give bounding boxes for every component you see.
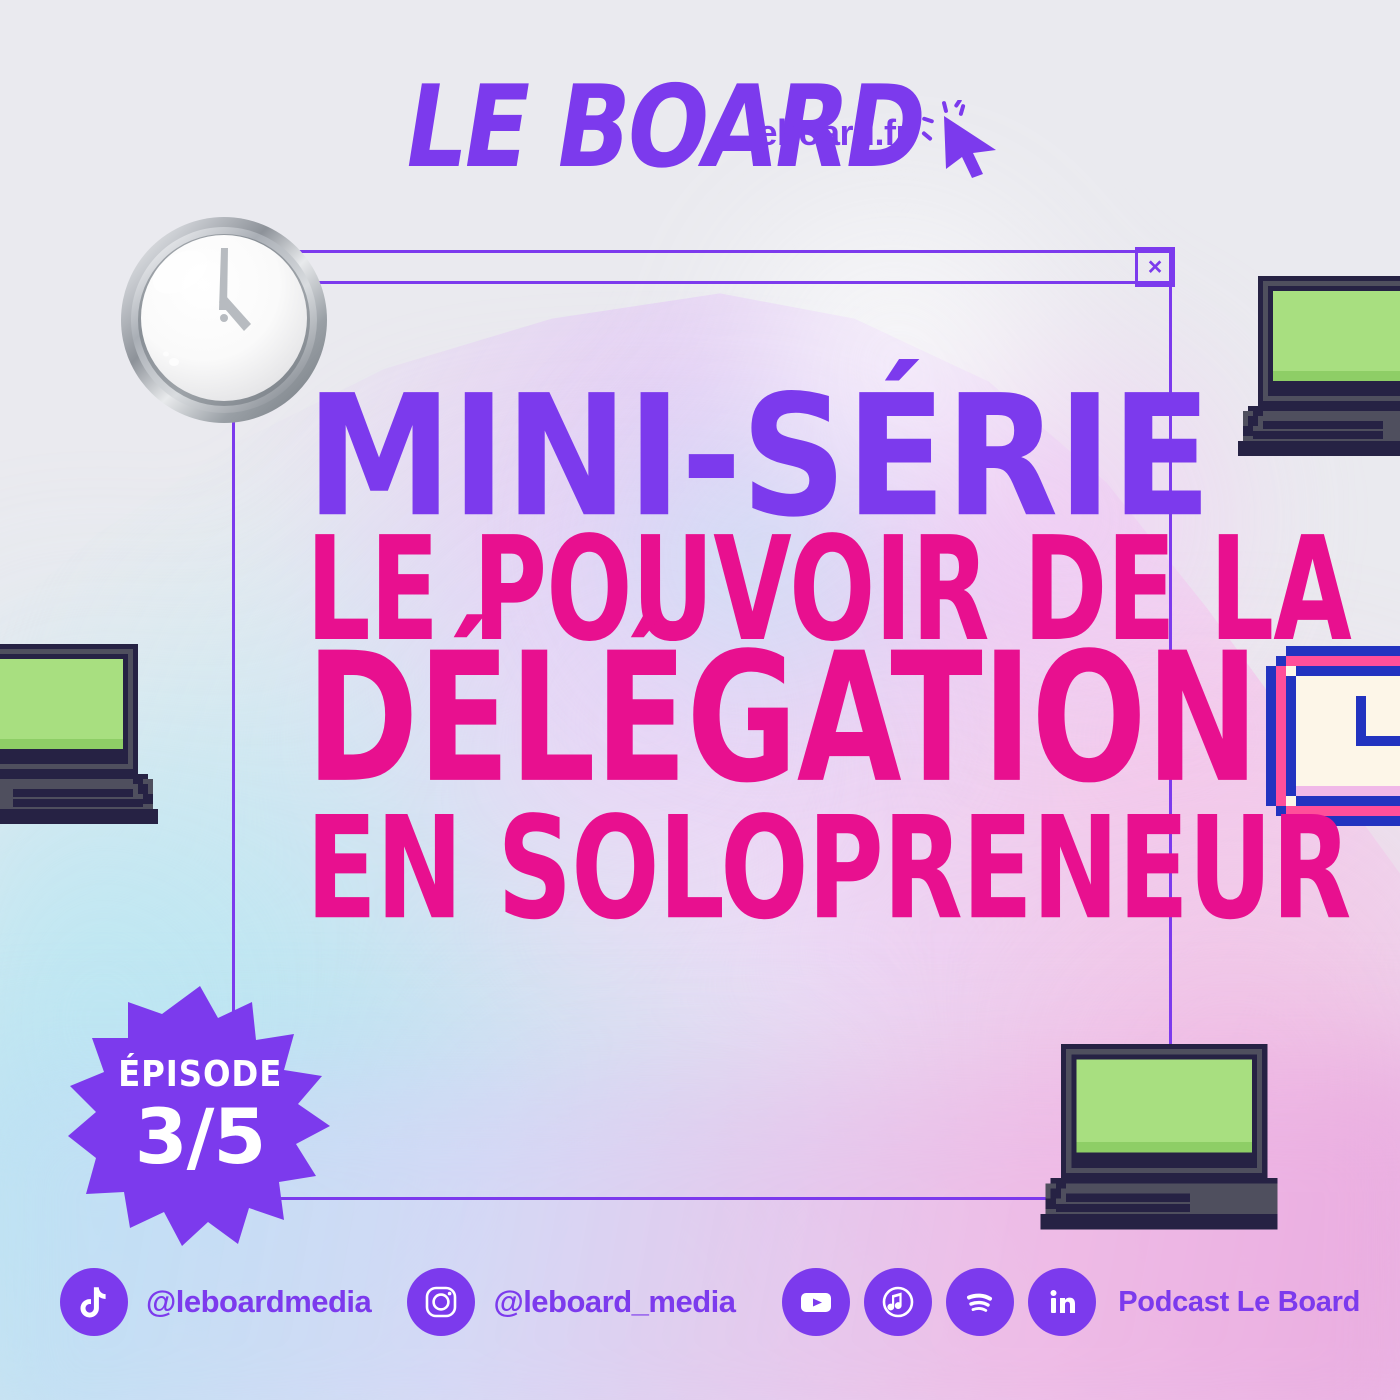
click-cursor-icon — [920, 100, 1010, 180]
instagram-icon[interactable] — [407, 1268, 475, 1336]
headline-line-4: EN SOLOPRENEUR — [306, 808, 1001, 930]
website-url[interactable]: leboard.fr — [748, 112, 909, 154]
pixel-laptop-top-right — [1238, 276, 1400, 466]
social-tiktok[interactable]: @leboardmedia — [60, 1268, 371, 1336]
pixel-laptop-left — [0, 644, 158, 834]
close-icon[interactable]: × — [1135, 247, 1175, 287]
spotify-icon[interactable] — [946, 1268, 1014, 1336]
episode-label: ÉPISODE — [118, 1054, 282, 1095]
window-title-bar — [232, 250, 1172, 284]
podcast-label: Podcast Le Board — [1118, 1286, 1360, 1319]
episode-number: 3/5 — [135, 1099, 266, 1175]
apple-podcasts-icon[interactable] — [864, 1268, 932, 1336]
podcast-cover: × — [0, 0, 1400, 1400]
headline-line-3: DÉLÉGATION — [306, 643, 1001, 797]
window-frame-bottom-edge — [232, 1197, 1172, 1200]
headline-block: MINI-SÉRIE LE POUVOIR DE LA DÉLÉGATION E… — [306, 386, 1096, 909]
instagram-handle[interactable]: @leboard_media — [493, 1284, 735, 1320]
linkedin-icon[interactable] — [1028, 1268, 1096, 1336]
social-instagram[interactable]: @leboard_media — [407, 1268, 735, 1336]
tiktok-icon[interactable] — [60, 1268, 128, 1336]
clock-emoji — [118, 214, 330, 426]
pixel-laptop-bottom-right — [1040, 1044, 1278, 1240]
platform-icons: Podcast Le Board — [782, 1268, 1360, 1336]
youtube-icon[interactable] — [782, 1268, 850, 1336]
footer-social-bar: @leboardmedia @leboard_media — [60, 1268, 1360, 1336]
tiktok-handle[interactable]: @leboardmedia — [146, 1284, 371, 1320]
episode-badge: ÉPISODE 3/5 — [66, 980, 334, 1248]
